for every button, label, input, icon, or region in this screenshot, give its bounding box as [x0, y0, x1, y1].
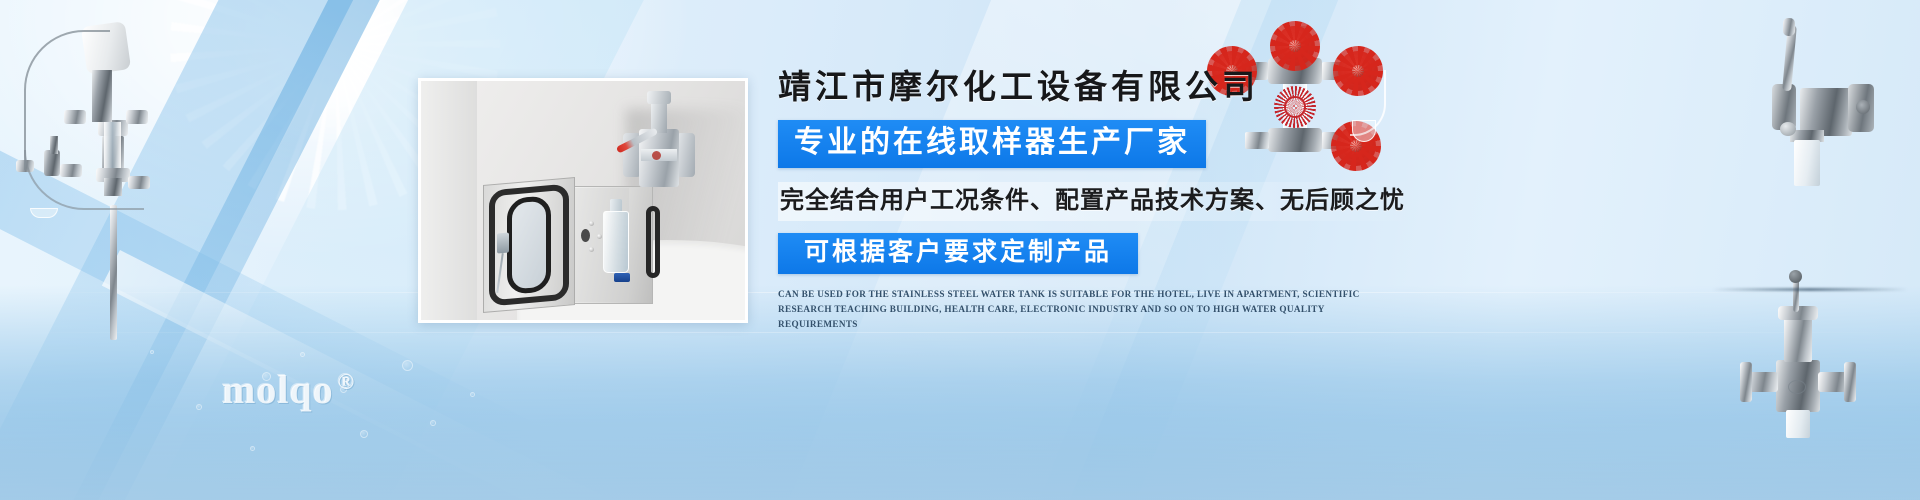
sampling-valve-assembly: [621, 89, 697, 194]
watermark-text: molqo: [222, 367, 334, 412]
horizon-line-lower: [0, 332, 1920, 333]
sample-bottle-cap: [614, 273, 630, 282]
product-photo: [418, 78, 748, 323]
sampler-cabinet-port: [581, 229, 590, 242]
registered-trademark-icon: ®: [338, 369, 355, 394]
sample-bottle: [603, 211, 629, 273]
headline-badge: 专业的在线取样器生产厂家: [778, 120, 1206, 168]
company-title: 靖江市摩尔化工设备有限公司: [778, 70, 1418, 106]
cabinet-door-window: [507, 195, 551, 295]
photo-wall-left: [421, 81, 477, 320]
valve-handwheel-top: [1275, 26, 1315, 66]
english-description: CAN BE USED FOR THE STAINLESS STEEL WATE…: [778, 287, 1398, 332]
custom-product-badge: 可根据客户要求定制产品: [778, 233, 1138, 275]
subheadline-text: 完全结合用户工况条件、配置产品技术方案、无后顾之忧: [778, 182, 1418, 221]
cabinet-lock: [497, 232, 509, 253]
promo-banner: 靖江市摩尔化工设备有限公司 专业的在线取样器生产厂家 完全结合用户工况条件、配置…: [0, 0, 1920, 500]
valve-brand-badge-icon: [652, 151, 661, 160]
banner-copy: 靖江市摩尔化工设备有限公司 专业的在线取样器生产厂家 完全结合用户工况条件、配置…: [778, 70, 1418, 332]
cabinet-side-handle: [646, 206, 660, 278]
brand-watermark: molqo®: [222, 366, 355, 413]
